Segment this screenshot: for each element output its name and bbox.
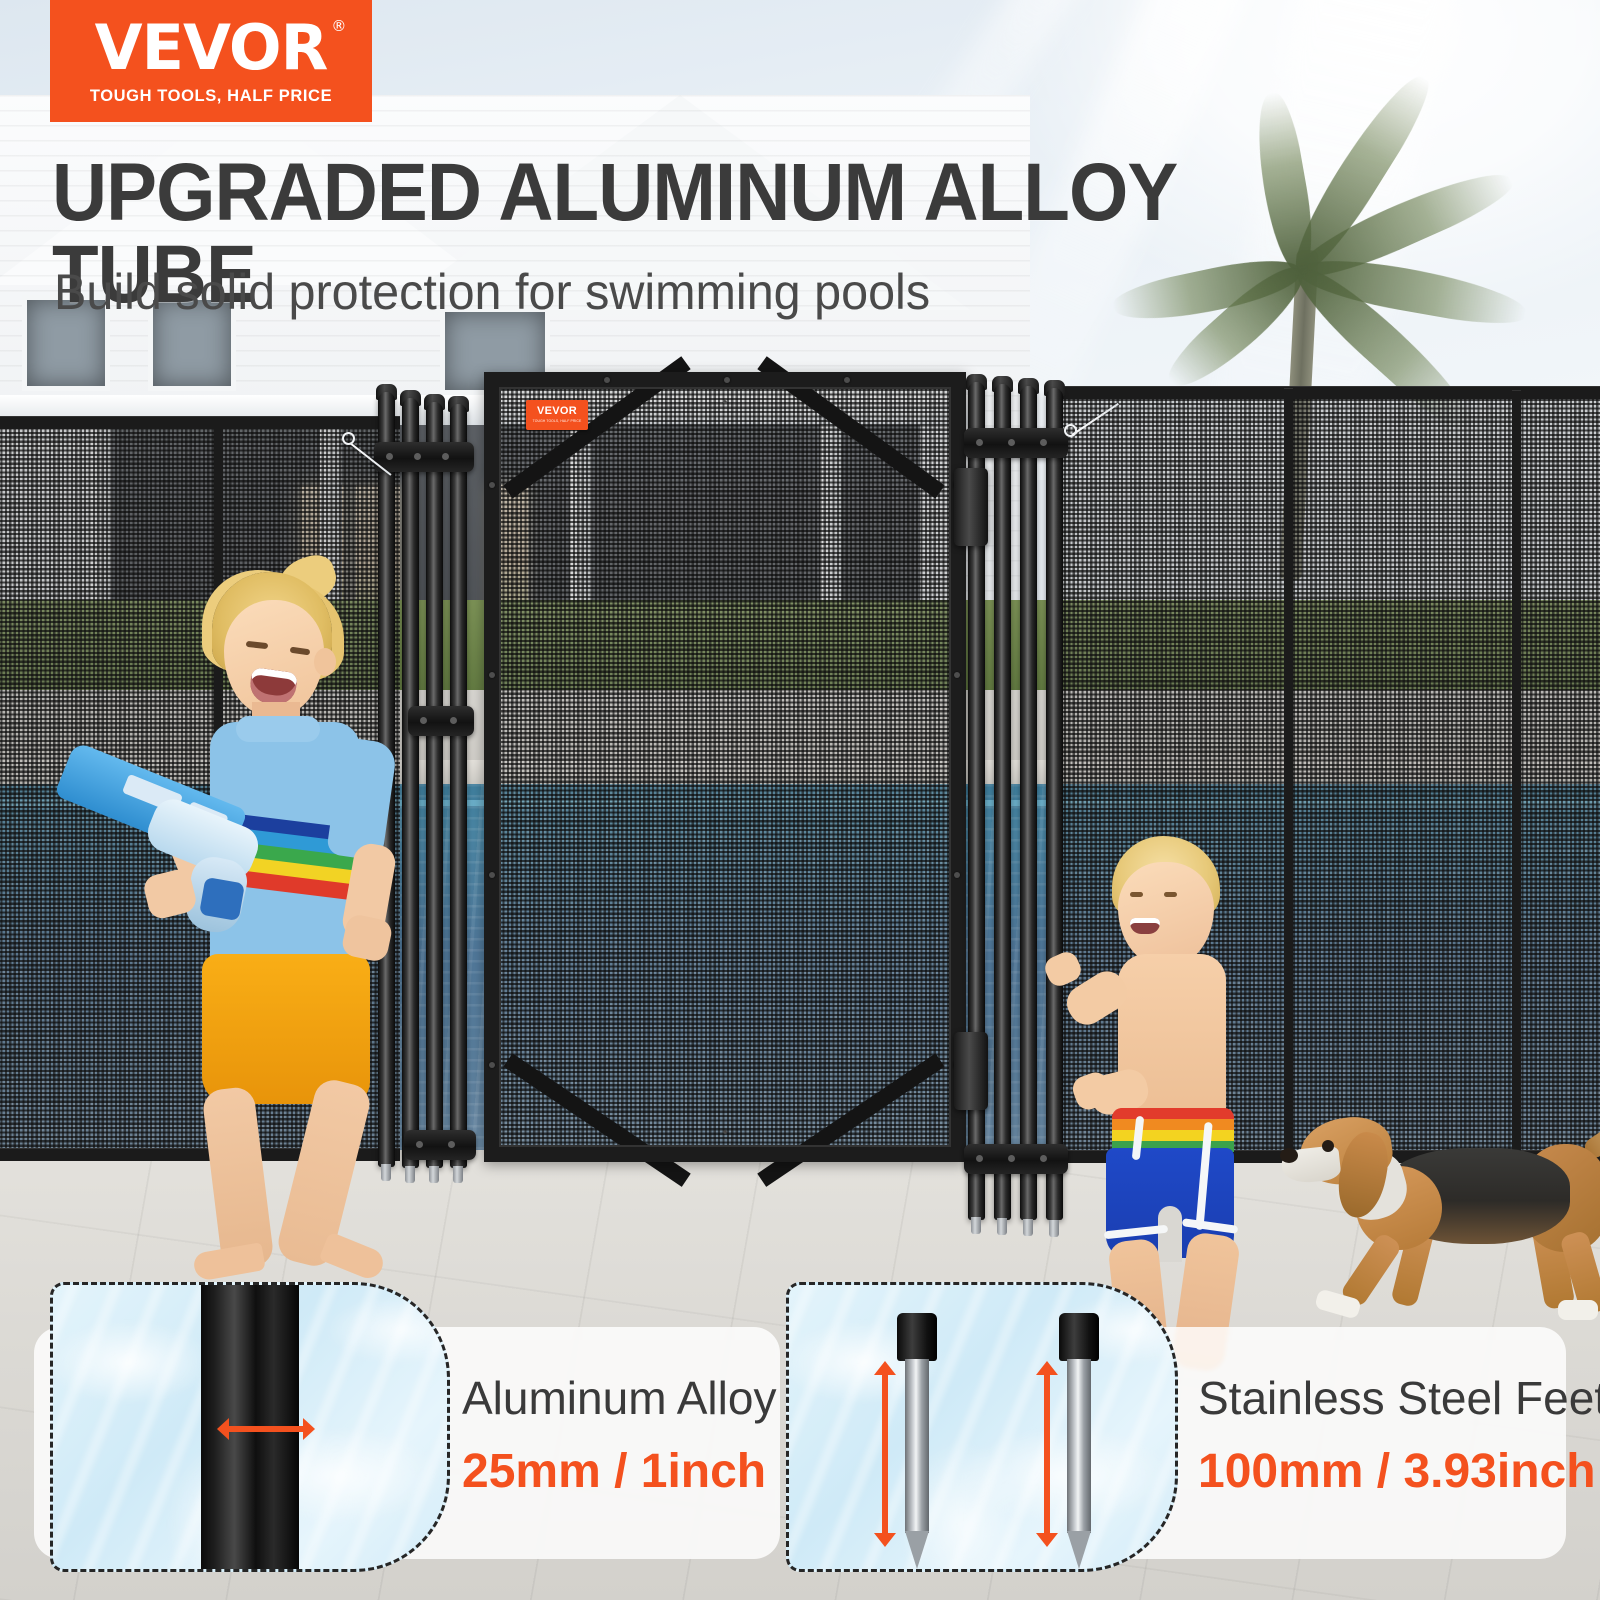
shirt-collar xyxy=(236,716,320,742)
spike-shaft xyxy=(905,1359,929,1533)
waistband-stripe xyxy=(1112,1119,1234,1130)
callout-value-aluminum-alloy: 25mm / 1inch xyxy=(462,1448,766,1496)
spike-shaft xyxy=(1067,1359,1091,1533)
pool-fence-gate: VEVOR TOUGH TOOLS, HALF PRICE xyxy=(484,372,966,1162)
spike-tip xyxy=(905,1531,929,1569)
logo-wordmark: VEVOR® xyxy=(95,17,328,79)
dog-nose xyxy=(1280,1148,1298,1163)
stainless-steel-foot xyxy=(971,1217,981,1234)
waistband-stripe xyxy=(1112,1108,1234,1119)
pole-bracket-top xyxy=(374,442,474,472)
spike-tip xyxy=(1067,1531,1091,1569)
mouth xyxy=(1130,918,1160,934)
aluminum-pole xyxy=(994,384,1011,1220)
stainless-steel-foot xyxy=(997,1218,1007,1235)
gate-frame xyxy=(484,372,966,1162)
eye xyxy=(1164,892,1177,897)
waistband-stripe xyxy=(1112,1130,1234,1141)
product-tag-sublabel: TOUGH TOOLS, HALF PRICE xyxy=(533,419,582,424)
fence-post xyxy=(1512,390,1521,1165)
product-brand-tag: VEVOR TOUGH TOOLS, HALF PRICE xyxy=(526,400,588,430)
gate-rivet xyxy=(954,672,960,678)
gate-rivet xyxy=(489,482,495,488)
logo-word-text: VEVOR xyxy=(95,11,328,84)
child-running xyxy=(1052,836,1312,1266)
product-tag-label: VEVOR xyxy=(537,406,577,417)
water-texture xyxy=(786,1282,1178,1572)
vevor-logo: VEVOR® TOUGH TOOLS, HALF PRICE xyxy=(50,0,372,122)
callout-value-stainless-steel-feet: 100mm / 3.93inch xyxy=(1198,1448,1596,1496)
callout-image-aluminum-alloy xyxy=(50,1282,450,1572)
gate-rivet xyxy=(844,377,850,383)
head xyxy=(1118,862,1214,966)
dog-paw xyxy=(1558,1300,1598,1320)
aluminum-pole xyxy=(1020,386,1037,1220)
gate-rivet xyxy=(604,377,610,383)
gate-hinge-top xyxy=(954,468,988,546)
gate-rivet xyxy=(724,377,730,383)
beagle-dog xyxy=(1282,1082,1600,1332)
gate-rivet xyxy=(489,1062,495,1068)
shorts-gap xyxy=(1158,1206,1182,1262)
callout-title-aluminum-alloy: Aluminum Alloy xyxy=(462,1375,776,1421)
stainless-steel-foot xyxy=(1023,1219,1033,1236)
leg xyxy=(201,1086,275,1271)
leg xyxy=(274,1076,373,1270)
ear xyxy=(314,648,336,676)
pole-bracket-top xyxy=(964,428,1068,458)
fence-top-rail xyxy=(0,416,400,429)
eye xyxy=(1130,892,1143,897)
callout-title-stainless-steel-feet: Stainless Steel Feet xyxy=(1198,1375,1600,1421)
gate-hinge-bottom xyxy=(954,1032,988,1110)
gate-rivet xyxy=(954,872,960,878)
cable-ring xyxy=(1064,424,1077,437)
marketing-image: VEVOR TOUGH TOOLS, HALF PRICE xyxy=(0,0,1600,1600)
dog-eye xyxy=(1322,1140,1334,1152)
logo-tagline: TOUGH TOOLS, HALF PRICE xyxy=(90,87,332,106)
spike-black-cap xyxy=(897,1313,937,1361)
cable-ring xyxy=(342,432,355,445)
gate-rivet xyxy=(489,872,495,878)
spike-black-cap xyxy=(1059,1313,1099,1361)
callout-image-stainless-steel-feet xyxy=(786,1282,1178,1572)
water-gun-trigger xyxy=(199,877,245,921)
page-subtitle: Build solid protection for swimming pool… xyxy=(54,266,1218,319)
registered-trademark-icon: ® xyxy=(331,19,345,34)
rainbow-waistband xyxy=(1112,1108,1234,1152)
child-with-water-gun xyxy=(100,572,460,1272)
gate-rivet xyxy=(489,672,495,678)
